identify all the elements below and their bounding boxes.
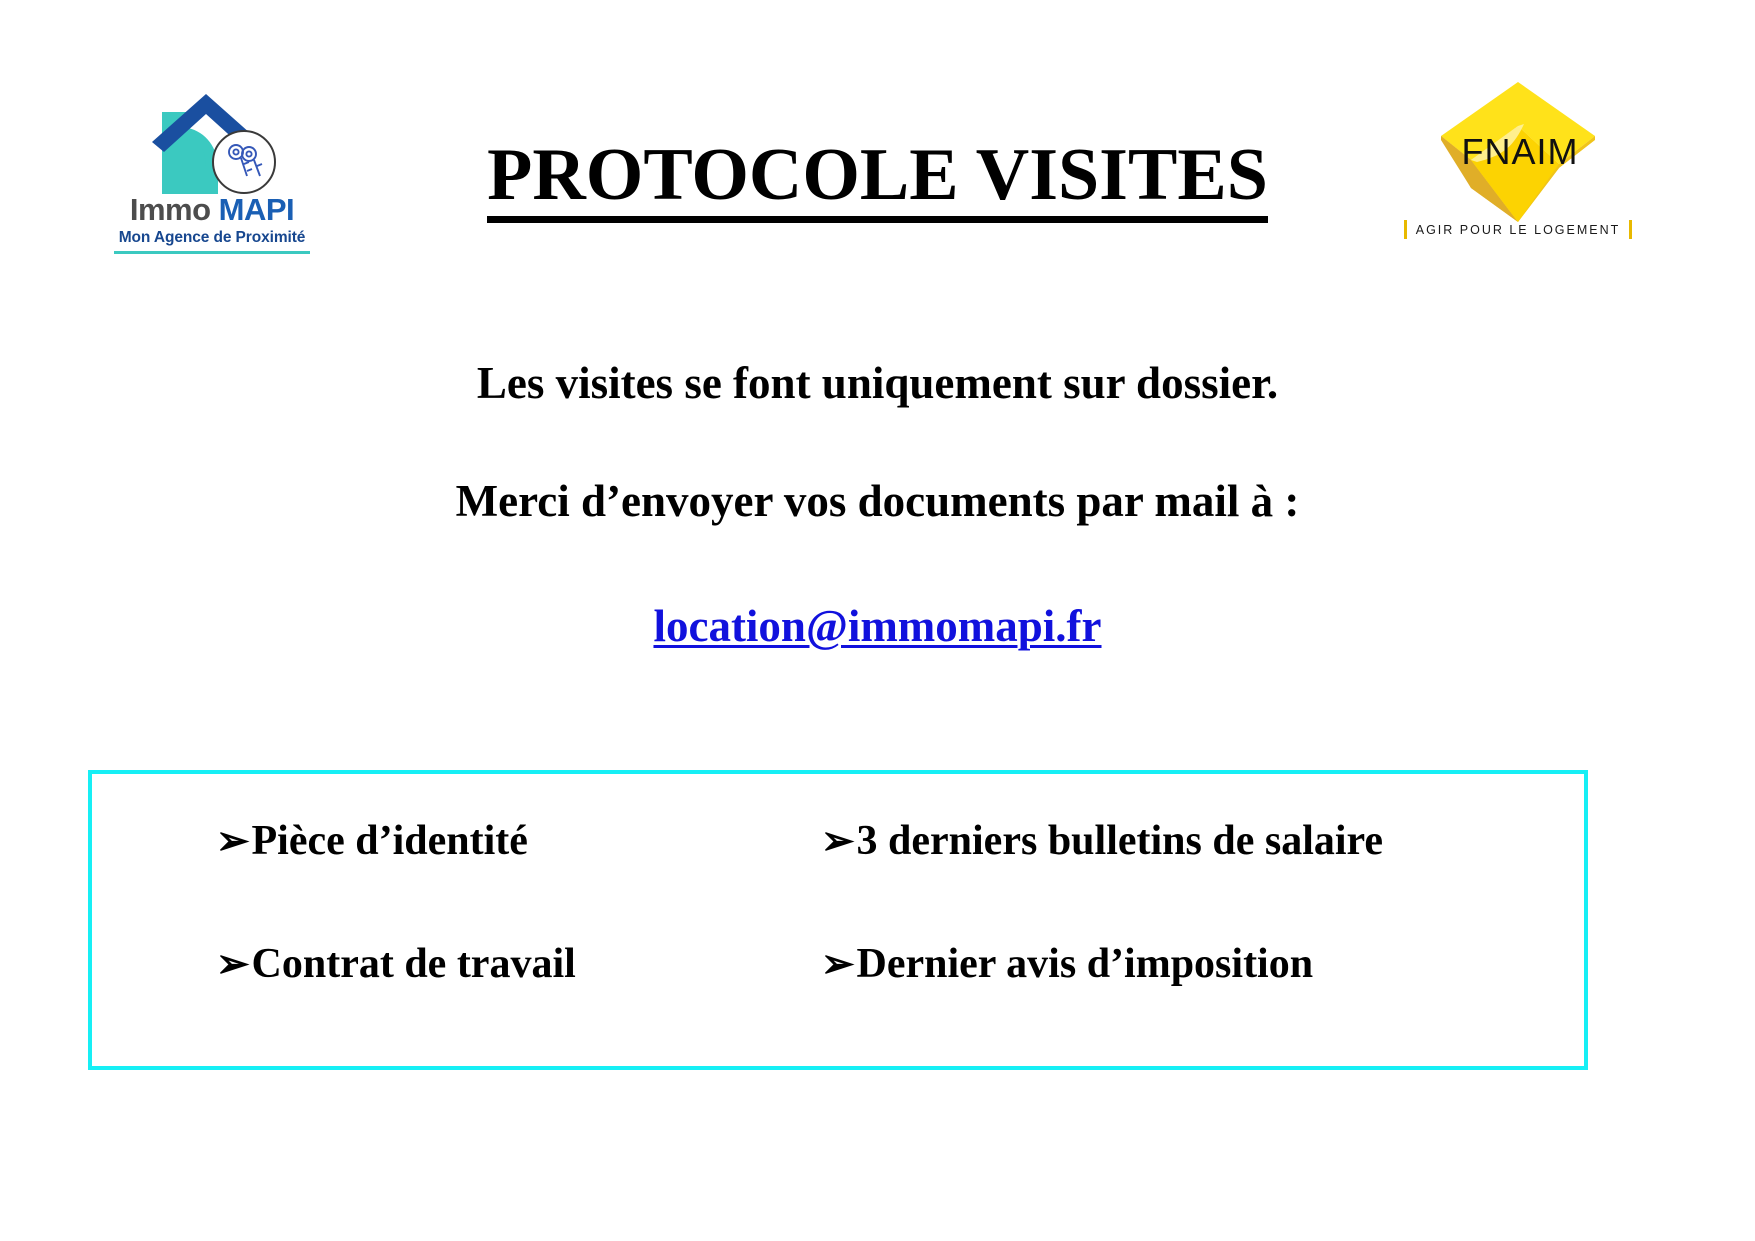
required-documents-grid: ➢ Pièce d’identité ➢ 3 derniers bulletin… (92, 774, 1584, 1066)
document-page: Immo MAPI Mon Agence de Proximité PROTOC… (0, 0, 1755, 1241)
fnaim-cube-icon: FNAIM (1427, 78, 1609, 226)
document-item: ➢ 3 derniers bulletins de salaire (821, 820, 1584, 943)
svg-text:FNAIM: FNAIM (1462, 131, 1579, 172)
page-title-text: PROTOCOLE VISITES (487, 138, 1268, 223)
body-line-1: Les visites se font uniquement sur dossi… (0, 360, 1755, 407)
document-item-label: Dernier avis d’imposition (857, 943, 1314, 985)
document-item: ➢ Contrat de travail (216, 943, 821, 1066)
arrow-bullet-icon: ➢ (821, 821, 855, 861)
document-item-label: 3 derniers bulletins de salaire (857, 820, 1384, 862)
document-item-label: Pièce d’identité (252, 820, 528, 862)
arrow-bullet-icon: ➢ (821, 944, 855, 984)
arrow-bullet-icon: ➢ (216, 944, 250, 984)
immo-mapi-tagline: Mon Agence de Proximité (92, 230, 332, 246)
arrow-bullet-icon: ➢ (216, 821, 250, 861)
document-header: Immo MAPI Mon Agence de Proximité PROTOC… (0, 0, 1755, 285)
fnaim-strapline: AGIR POUR LE LOGEMENT (1403, 220, 1633, 239)
body-line-2: Merci d’envoyer vos documents par mail à… (0, 478, 1755, 525)
document-item: ➢ Dernier avis d’imposition (821, 943, 1584, 1066)
immo-mapi-underline-rule (114, 251, 310, 254)
document-item-label: Contrat de travail (252, 943, 576, 985)
fnaim-logo: FNAIM AGIR POUR LE LOGEMENT (1403, 78, 1633, 258)
email-line: location@immomapi.fr (0, 600, 1755, 652)
fnaim-strapline-text: AGIR POUR LE LOGEMENT (1416, 223, 1621, 237)
body-content: Les visites se font uniquement sur dossi… (0, 360, 1755, 652)
document-item: ➢ Pièce d’identité (216, 820, 821, 943)
fnaim-bar-left-icon (1404, 220, 1407, 239)
email-link[interactable]: location@immomapi.fr (653, 601, 1101, 651)
required-documents-box: ➢ Pièce d’identité ➢ 3 derniers bulletin… (88, 770, 1588, 1070)
fnaim-bar-right-icon (1629, 220, 1632, 239)
